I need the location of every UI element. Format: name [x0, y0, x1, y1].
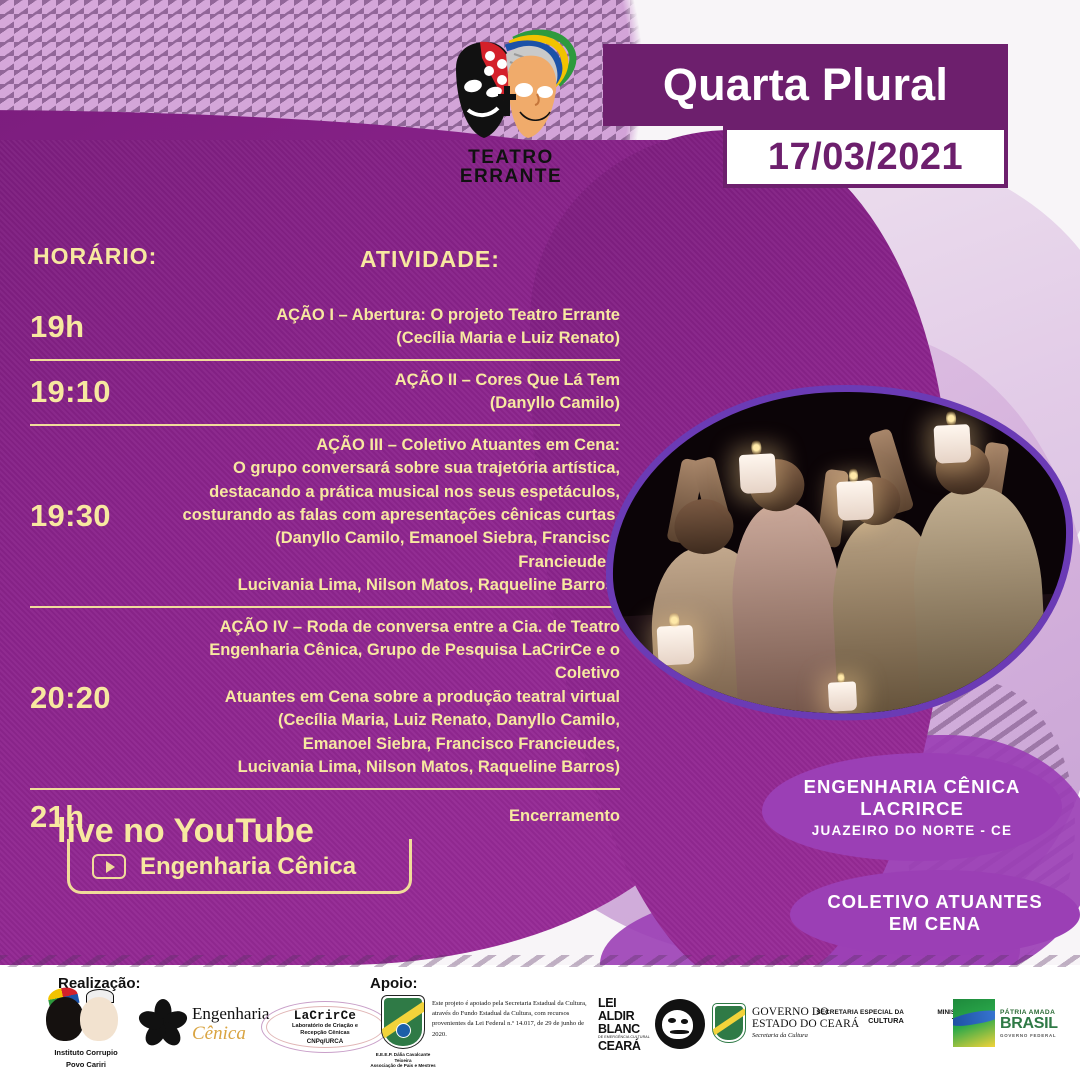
logo-text-engenharia: Engenharia — [192, 1005, 269, 1022]
flower-icon — [140, 1001, 186, 1047]
logo-caption-line1: Instituto Corrupio — [54, 1048, 117, 1057]
group-badge-coletivo: COLETIVO ATUANTES EM CENA — [790, 870, 1080, 956]
svg-text:TEATRO: TEATRO — [468, 147, 554, 168]
theatre-masks-icon: TEATRO ERRANTE — [440, 24, 582, 186]
logo-aldir-blanc-face — [652, 999, 708, 1049]
logo-caption-line2: Povo Cariri — [66, 1060, 106, 1069]
brasil-logo-box: PÁTRIA AMADA BRASIL GOVERNO FEDERAL — [953, 999, 1061, 1047]
group-name-line1: COLETIVO ATUANTES — [827, 891, 1042, 913]
photo-scene — [604, 380, 1075, 725]
logo-text-cenica: Cênica — [192, 1024, 269, 1043]
secretaria-line2: CULTURA — [868, 1016, 904, 1025]
table-row: 19:10 AÇÃO II – Cores Que Lá Tem (Danyll… — [30, 361, 620, 424]
live-stream-block: live no YouTube Engenharia Cênica — [55, 812, 455, 851]
brasil-line2: BRASIL — [1000, 1016, 1061, 1032]
logo-escola-brasao: E.E.E.P. Dália Cavalcante Teixeira Assoc… — [370, 995, 436, 1069]
shield-icon — [381, 995, 425, 1049]
row-activity: AÇÃO I – Abertura: O projeto Teatro Erra… — [170, 304, 620, 351]
brasil-flag-icon — [953, 999, 995, 1047]
row-time: 19:30 — [30, 498, 170, 534]
column-header-time: HORÁRIO: — [33, 243, 157, 270]
table-row: 20:20 AÇÃO IV – Roda de conversa entre a… — [30, 608, 620, 788]
brasil-line3: GOVERNO FEDERAL — [1000, 1033, 1061, 1038]
logo-instituto-corrupio: Instituto Corrupio Povo Cariri — [38, 997, 134, 1070]
svg-text:ERRANTE: ERRANTE — [460, 166, 562, 186]
row-activity: AÇÃO II – Cores Que Lá Tem (Danyllo Cami… — [170, 369, 620, 416]
photo-candle — [739, 453, 777, 493]
row-time: 19:10 — [30, 374, 170, 410]
event-title-box: Quarta Plural — [603, 44, 1008, 126]
logo-lei-aldir-blanc: LEI ALDIR BLANC DE EMERGÊNCIA CULTURAL C… — [598, 997, 652, 1052]
face-portrait-icon — [655, 999, 705, 1049]
photo-candle — [828, 681, 857, 711]
table-row: 19:30 AÇÃO III – Coletivo Atuantes em Ce… — [30, 426, 620, 606]
photo-performer — [909, 485, 1049, 726]
page-title: Quarta Plural — [663, 59, 948, 111]
row-time: 20:20 — [30, 680, 170, 716]
group-name-line1: ENGENHARIA CÊNICA — [804, 776, 1021, 798]
lacrirce-subtitle: Laboratório de Criação e Recepção Cênica… — [292, 1023, 358, 1038]
photo-candle — [836, 480, 874, 520]
performance-photo — [604, 380, 1075, 725]
lacrirce-org: CNPq/URCA — [307, 1038, 343, 1045]
aldir-line3: BLANC — [598, 1023, 640, 1036]
aldir-line4: CEARÁ — [598, 1040, 640, 1053]
logo-engenharia-cenica: Engenharia Cênica — [140, 1001, 270, 1047]
label-apoio: Apoio: — [370, 975, 417, 992]
youtube-play-icon — [92, 854, 126, 879]
logo-patria-amada-brasil: PÁTRIA AMADA BRASIL GOVERNO FEDERAL — [952, 999, 1062, 1047]
footer-bar: Realização: Apoio: Instituto Corrupio Po… — [0, 965, 1080, 1080]
group-name-line2: EM CENA — [889, 913, 981, 935]
schedule-table: 19h AÇÃO I – Abertura: O projeto Teatro … — [30, 296, 620, 844]
footer-logo-strip: Instituto Corrupio Povo Cariri Engenhari… — [0, 995, 1080, 1077]
column-header-activity: ATIVIDADE: — [360, 246, 500, 273]
photo-candle — [933, 424, 971, 464]
logo-secretaria-cultura: SECRETARIA ESPECIAL DA CULTURA — [812, 1009, 904, 1025]
row-activity: AÇÃO IV – Roda de conversa entre a Cia. … — [170, 616, 620, 780]
poster-canvas: TEATRO ERRANTE Quarta Plural 17/03/2021 … — [0, 0, 1080, 1080]
row-time: 19h — [30, 309, 170, 345]
table-row: 19h AÇÃO I – Abertura: O projeto Teatro … — [30, 296, 620, 359]
governo-line3: Secretaria da Cultura — [752, 1033, 859, 1040]
aldir-line2: ALDIR — [598, 1010, 634, 1023]
lacrirce-title: LaCrirCe — [294, 1009, 356, 1023]
secretaria-line1: SECRETARIA ESPECIAL DA — [816, 1009, 904, 1016]
logo-caption-brasao: E.E.E.P. Dália Cavalcante Teixeira Assoc… — [370, 1052, 436, 1069]
event-date: 17/03/2021 — [768, 136, 963, 179]
group-name-line2: LACRIRCE — [860, 798, 964, 820]
support-statement: Este projeto é apoiado pela Secretaria E… — [432, 999, 592, 1040]
photo-candle — [657, 625, 695, 665]
event-date-box: 17/03/2021 — [723, 126, 1008, 188]
group-location: JUAZEIRO DO NORTE - CE — [812, 823, 1012, 838]
aldir-line1: LEI — [598, 997, 616, 1010]
row-activity: AÇÃO III – Coletivo Atuantes em Cena: O … — [170, 434, 620, 598]
support-statement-text: Este projeto é apoiado pela Secretaria E… — [432, 999, 592, 1040]
ceara-seal-icon — [712, 1003, 746, 1043]
corrupio-masks-icon — [46, 997, 126, 1045]
teatro-errante-logo: TEATRO ERRANTE — [440, 24, 582, 186]
youtube-channel-button[interactable]: Engenharia Cênica — [67, 842, 412, 894]
footer-dash-edge — [0, 955, 1080, 967]
youtube-channel-name: Engenharia Cênica — [140, 853, 356, 881]
